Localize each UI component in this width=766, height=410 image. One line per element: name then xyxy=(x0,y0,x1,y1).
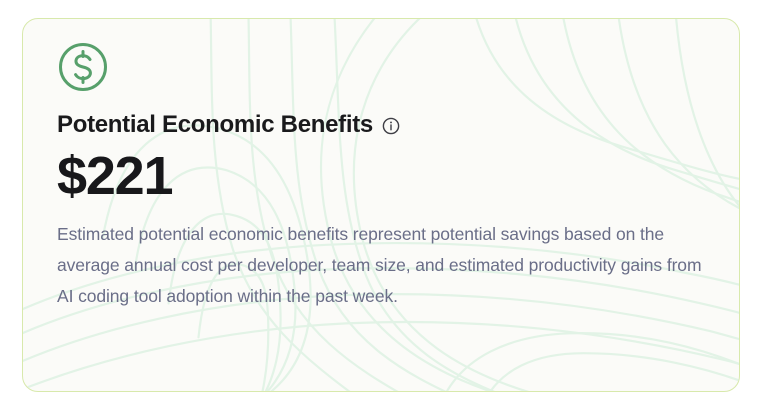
metric-description: Estimated potential economic benefits re… xyxy=(57,219,705,312)
card-content: Potential Economic Benefits $221 Estimat… xyxy=(57,41,715,312)
page-root: Potential Economic Benefits $221 Estimat… xyxy=(0,0,766,410)
potential-economic-benefits-card: Potential Economic Benefits $221 Estimat… xyxy=(22,18,740,392)
card-heading-row: Potential Economic Benefits xyxy=(57,112,715,138)
card-title: Potential Economic Benefits xyxy=(57,112,373,138)
dollar-circle-icon xyxy=(57,41,109,93)
metric-value: $221 xyxy=(57,148,715,205)
info-icon[interactable] xyxy=(382,117,400,135)
